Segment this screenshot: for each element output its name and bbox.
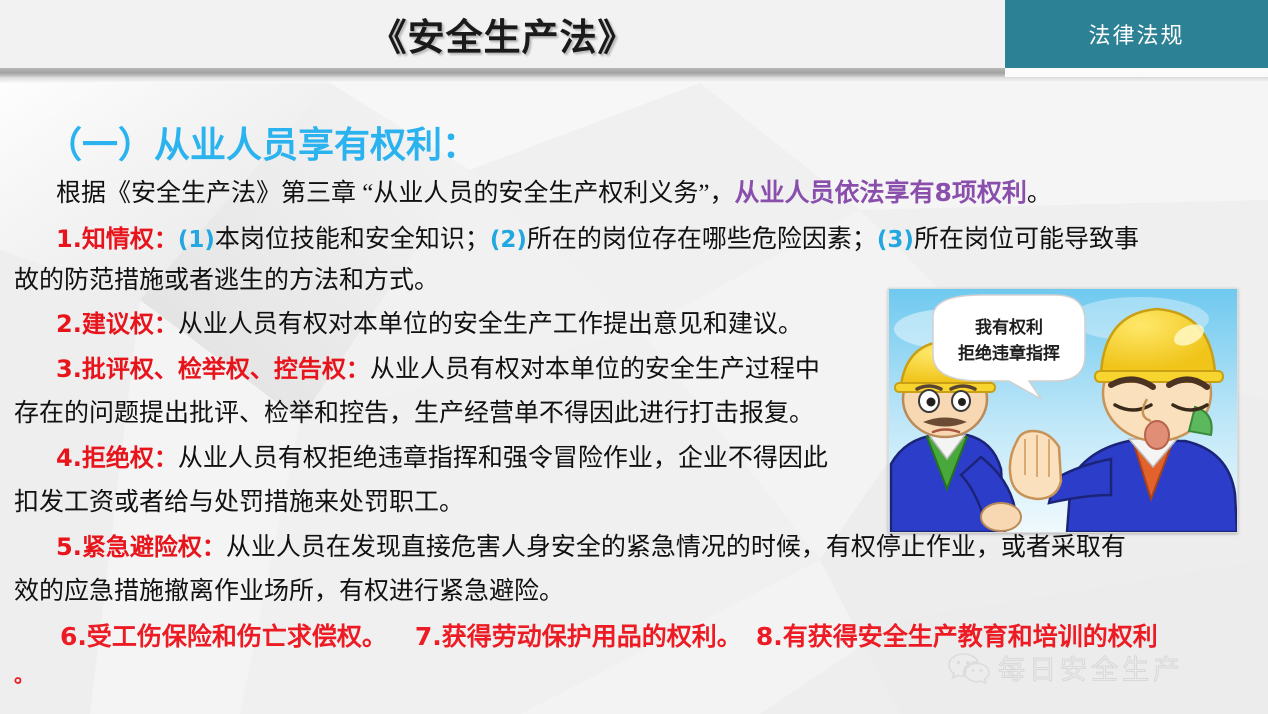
right-item-2-text: 从业人员有权对本单位的安全生产工作提出意见和建议。 xyxy=(178,311,803,338)
right-item-8: 8.有获得安全生产教育和培训的权利 xyxy=(756,622,1158,651)
header-divider-bar xyxy=(0,68,1005,77)
sub-text-3: 所在岗位可能导致事 xyxy=(914,226,1139,253)
right-item-3-wrap: 存在的问题提出批评、检举和控告，生产经营单不得因此进行打击报复。 xyxy=(14,400,814,428)
intro-text-part2: 。 xyxy=(1027,180,1052,207)
right-item-5: 5.紧急避险权：从业人员在发现直接危害人身安全的紧急情况的时候，有权停止作业，或… xyxy=(56,534,1126,562)
speech-line-1: 我有权利 xyxy=(975,317,1043,338)
sub-number-2: (2) xyxy=(490,227,527,253)
slide-header: 《安全生产法》 法律法规 xyxy=(0,0,1268,68)
cartoon-illustration-svg: 我有权利 拒绝违章指挥 xyxy=(889,289,1237,532)
right-item-4-wrap: 扣发工资或者给与处罚措施来处罚职工。 xyxy=(14,489,464,517)
intro-text-part1: 根据《安全生产法》第三章 “从业人员的安全生产权利义务”， xyxy=(56,180,734,207)
speech-line-2: 拒绝违章指挥 xyxy=(958,343,1060,364)
right-item-5-text: 从业人员在发现直接危害人身安全的紧急情况的时候，有权停止作业，或者采取有 xyxy=(226,534,1126,561)
right-item-1: 1.知情权：(1)本岗位技能和安全知识；(2)所在的岗位存在哪些危险因素；(3)… xyxy=(56,226,1139,254)
intro-paragraph: 根据《安全生产法》第三章 “从业人员的安全生产权利义务”，从业人员依法享有8项权… xyxy=(56,179,1052,208)
right-item-3-label: 3.批评权、检举权、控告权： xyxy=(56,355,370,383)
trailing-punctuation: 。 xyxy=(14,663,34,687)
right-item-4: 4.拒绝权：从业人员有权拒绝违章指挥和强令冒险作业，企业不得因此 xyxy=(56,445,828,473)
right-item-6: 6.受工伤保险和伤亡求偿权。 xyxy=(60,622,387,651)
section-heading: （一）从业人员享有权利： xyxy=(46,116,478,168)
right-item-4-label: 4.拒绝权： xyxy=(56,444,178,472)
slide-root: 《安全生产法》 法律法规 （一）从业人员享有权利： 根据《安全生产法》第三章 “… xyxy=(0,0,1268,714)
two-workers-cartoon-image: 我有权利 拒绝违章指挥 xyxy=(888,288,1238,533)
sub-text-2: 所在的岗位存在哪些危险因素； xyxy=(527,226,877,253)
right-item-5-wrap: 效的应急措施撤离作业场所，有权进行紧急避险。 xyxy=(14,578,564,606)
right-item-4-text: 从业人员有权拒绝违章指挥和强令冒险作业，企业不得因此 xyxy=(178,445,828,472)
final-rights-line: 6.受工伤保险和伤亡求偿权。7.获得劳动保护用品的权利。8.有获得安全生产教育和… xyxy=(60,623,1158,652)
sub-number-3: (3) xyxy=(877,227,914,253)
page-title: 《安全生产法》 xyxy=(0,0,1005,68)
sub-number-1: (1) xyxy=(178,227,215,253)
final-rights-trailing: 。 xyxy=(14,661,34,689)
right-item-1-wrap: 故的防范措施或者逃生的方法和方式。 xyxy=(14,267,439,295)
right-item-5-label: 5.紧急避险权： xyxy=(56,533,226,561)
status-badge: 法律法规 xyxy=(1005,0,1268,68)
right-item-3-text: 从业人员有权对本单位的安全生产过程中 xyxy=(370,356,820,383)
right-item-2: 2.建议权：从业人员有权对本单位的安全生产工作提出意见和建议。 xyxy=(56,311,803,339)
right-item-3: 3.批评权、检举权、控告权：从业人员有权对本单位的安全生产过程中 xyxy=(56,356,820,384)
right-item-2-label: 2.建议权： xyxy=(56,310,178,338)
right-item-7: 7.获得劳动保护用品的权利。 xyxy=(415,622,742,651)
right-item-1-label: 1.知情权： xyxy=(56,225,178,253)
sub-text-1: 本岗位技能和安全知识； xyxy=(215,226,490,253)
intro-highlight: 从业人员依法享有8项权利 xyxy=(734,178,1026,207)
